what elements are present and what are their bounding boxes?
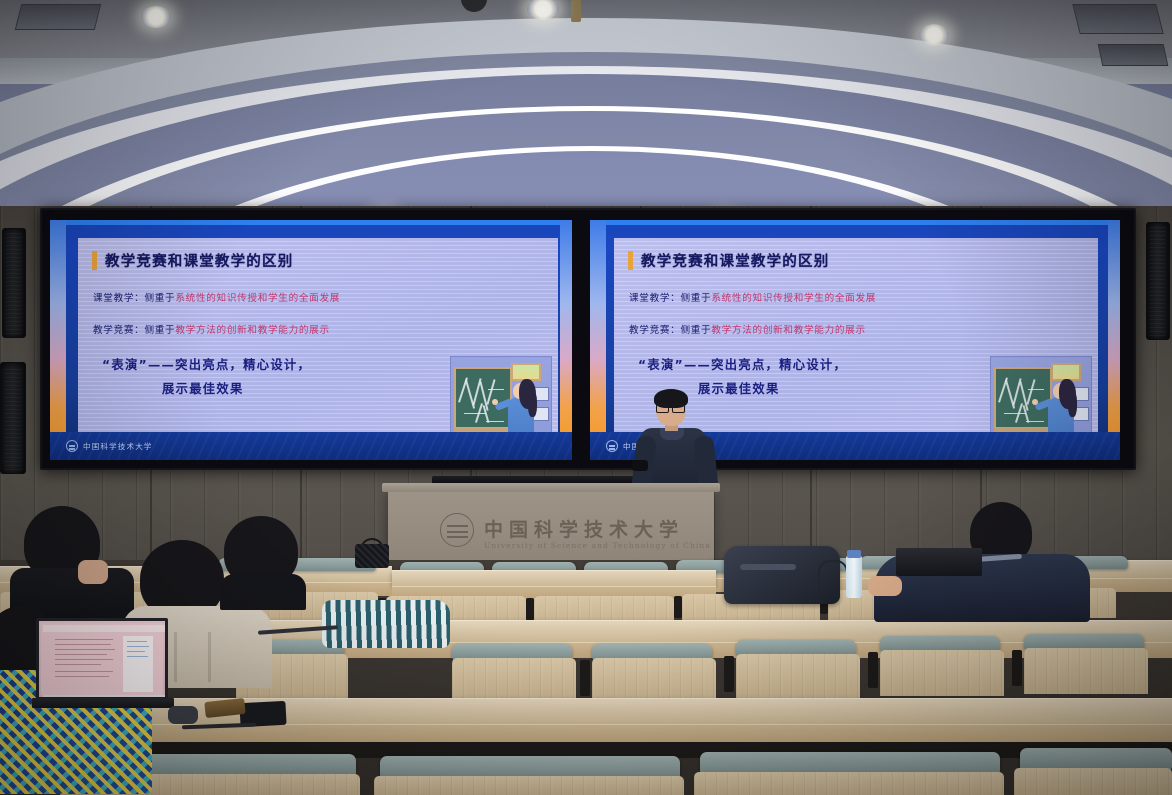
seat	[1020, 748, 1172, 770]
attendee-4	[224, 516, 304, 596]
illustration-chalkboard-icon	[454, 367, 512, 429]
ceiling-vent-left	[15, 4, 101, 30]
screen-edge-gradient-right	[1108, 220, 1120, 460]
bullet-2-highlight: 教学方法的创新和教学能力的展示	[175, 325, 329, 336]
title-accent-bar	[628, 251, 633, 270]
laptop-right[interactable]	[896, 548, 982, 576]
illustration-hand	[492, 399, 498, 405]
hand	[78, 560, 108, 584]
seat-base	[736, 654, 860, 700]
seat-base	[1014, 768, 1172, 795]
illustration-hand	[1032, 399, 1038, 405]
seat	[380, 756, 680, 778]
torso	[220, 574, 306, 610]
ustc-logo-icon	[606, 440, 618, 452]
seat-base	[880, 650, 1004, 696]
wall-speaker-left-upper	[2, 228, 26, 338]
hand	[868, 576, 902, 596]
slide-footer-text: 中国科学技术大学	[83, 441, 153, 452]
slide-bullet-1: 课堂教学：侧重于系统性的知识传授和学生的全面发展	[93, 290, 340, 304]
seat-base	[694, 772, 1004, 795]
bullet-1-highlight: 系统性的知识传授和学生的全面发展	[711, 293, 876, 304]
slide-illustration-teacher	[990, 356, 1092, 444]
slide-quote-line-2: 展示最佳效果	[162, 379, 244, 397]
title-accent-bar	[92, 251, 97, 270]
slide-title: 教学竞赛和课堂教学的区别	[105, 250, 293, 271]
ceiling-vent-right	[1072, 4, 1163, 34]
slide-quote-line-1: “表演”——突出亮点，精心设计，	[102, 355, 311, 373]
bullet-1-prefix: 课堂教学：侧重于	[93, 293, 175, 304]
document-toolbar	[43, 625, 165, 632]
desk-row-a-center	[392, 570, 716, 586]
led-screen-housing: 教学竞赛和课堂教学的区别 课堂教学：侧重于系统性的知识传授和学生的全面发展 教学…	[40, 208, 1136, 470]
illustration-teacher-ponytail	[528, 391, 537, 417]
slide-title: 教学竞赛和课堂教学的区别	[641, 250, 829, 271]
seat	[700, 752, 1000, 774]
slide-bullet-2: 教学竞赛：侧重于教学方法的创新和教学能力的展示	[93, 322, 330, 336]
bottle-cap	[847, 550, 861, 558]
illustration-chalkboard-icon	[994, 367, 1052, 429]
slide-content-left: 教学竞赛和课堂教学的区别 课堂教学：侧重于系统性的知识传授和学生的全面发展 教学…	[78, 238, 558, 446]
lecture-hall-photo: 教学竞赛和课堂教学的区别 课堂教学：侧重于系统性的知识传授和学生的全面发展 教学…	[0, 0, 1172, 795]
podium-name-en: University of Science and Technology of …	[484, 541, 711, 550]
wall-speaker-left-lower	[0, 362, 26, 474]
water-bottle	[846, 556, 862, 598]
laptop-base	[32, 698, 174, 708]
slide-title-row: 教学竞赛和课堂教学的区别	[92, 250, 293, 271]
presentation-clicker	[632, 460, 648, 471]
striped-bag	[322, 600, 450, 648]
slide-quote-line-1: “表演”——突出亮点，精心设计，	[638, 355, 847, 373]
laptop[interactable]	[36, 618, 176, 710]
downlight	[141, 6, 171, 28]
seat-base	[374, 776, 684, 795]
screen-top-edge	[590, 220, 1120, 225]
ceiling-vent-right-2	[1098, 44, 1169, 66]
handbag	[355, 544, 389, 568]
ustc-logo-icon	[66, 440, 78, 452]
downlight	[919, 24, 949, 46]
bullet-1-highlight: 系统性的知识传授和学生的全面发展	[175, 293, 340, 304]
laptop-screen	[36, 618, 168, 700]
document-panel	[123, 636, 153, 692]
podium-top-edge	[382, 483, 720, 492]
seat-base	[1024, 648, 1148, 694]
bullet-2-prefix: 教学竞赛：侧重于	[93, 325, 175, 336]
screen-top-edge	[50, 220, 572, 225]
slide-bullet-1: 课堂教学：侧重于系统性的知识传授和学生的全面发展	[629, 290, 876, 304]
backpack-strap	[740, 564, 796, 570]
slide-title-row: 教学竞赛和课堂教学的区别	[628, 250, 829, 271]
accessory-case	[168, 706, 198, 724]
bullet-2-prefix: 教学竞赛：侧重于	[629, 325, 711, 336]
screen-edge-gradient-right	[560, 220, 572, 460]
slide-illustration-teacher	[450, 356, 552, 444]
bag-handle	[818, 560, 848, 592]
slide-bullet-2: 教学竞赛：侧重于教学方法的创新和教学能力的展示	[629, 322, 866, 336]
ceiling	[0, 0, 1172, 214]
podium-name-cn: 中国科学技术大学	[484, 515, 684, 542]
screen-edge-gradient-left	[590, 220, 606, 460]
wall-speaker-right-far	[1146, 222, 1170, 340]
left-screen[interactable]: 教学竞赛和课堂教学的区别 课堂教学：侧重于系统性的知识传授和学生的全面发展 教学…	[50, 220, 572, 460]
laptop-document	[41, 623, 163, 695]
sprinkler-icon	[571, 0, 581, 22]
glasses-icon	[656, 404, 685, 411]
slide-footer-left: 中国科学技术大学	[50, 432, 572, 460]
attendee-2	[10, 506, 130, 614]
bullet-2-highlight: 教学方法的创新和教学能力的展示	[711, 325, 865, 336]
screen-edge-gradient-left	[50, 220, 66, 460]
ustc-emblem-icon	[440, 513, 474, 547]
bullet-1-prefix: 课堂教学：侧重于	[629, 293, 711, 304]
illustration-teacher-ponytail	[1068, 391, 1077, 417]
